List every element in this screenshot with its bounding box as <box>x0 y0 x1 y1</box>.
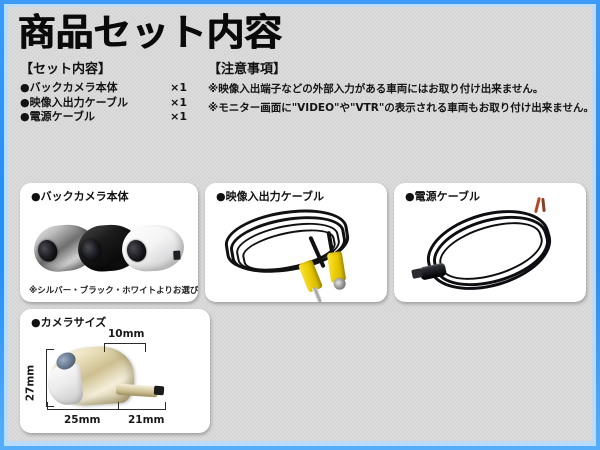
set-item-text-0: バックカメラ本体 <box>30 81 118 94</box>
camera-lens-icon <box>35 237 60 264</box>
set-contents-row: ●映像入出力ケーブル ×1 <box>20 96 205 111</box>
dimension-tick <box>104 343 105 352</box>
camera-mount-base <box>46 363 84 406</box>
set-item-label-2: ●電源ケーブル <box>20 110 95 125</box>
note-line-1: ※モニター画面に"VIDEO"や"VTR"の表示される車両もお取り付け出来ません… <box>208 101 586 116</box>
set-contents-heading: 【セット内容】 <box>20 61 205 78</box>
panel-back-camera: ●バックカメラ本体 ※シルバー・ブラック・ホワイトよりお選び下さい <box>20 183 198 302</box>
panel-label-av-cable: ●映像入出力ケーブル <box>216 190 324 204</box>
set-item-qty-0: ×1 <box>170 81 205 96</box>
dimension-label-bottom-left: 25mm <box>64 414 101 426</box>
dimension-tick <box>145 343 146 352</box>
bullet-icon: ● <box>20 96 30 109</box>
dimension-label-top: 10mm <box>108 328 145 340</box>
panel-label-camera-size: ●カメラサイズ <box>31 316 106 330</box>
rca-center-pin <box>312 287 323 302</box>
rca-jack-yellow <box>327 251 347 283</box>
notes-section: 【注意事項】 ※映像入出端子などの外部入力がある車両にはお取り付け出来ません。 … <box>208 61 586 116</box>
av-cable-photo <box>211 205 383 299</box>
dimension-line-top <box>104 343 146 344</box>
panel-footnote-color-choice: ※シルバー・ブラック・ホワイトよりお選び下さい <box>29 286 198 297</box>
camera-white <box>121 223 185 272</box>
set-contents-section: 【セット内容】 ●バックカメラ本体 ×1 ●映像入出力ケーブル ×1 ●電源ケー… <box>20 61 205 125</box>
set-contents-row: ●バックカメラ本体 ×1 <box>20 81 205 96</box>
panel-power-cable: ●電源ケーブル <box>394 183 586 302</box>
camera-mount-stem-tip <box>154 386 165 396</box>
dimension-line-bottom-left <box>47 409 119 410</box>
power-cable-bare-wire <box>534 197 540 213</box>
power-cable-photo <box>404 195 584 299</box>
panel-label-power-cable: ●電源ケーブル <box>405 190 480 204</box>
set-item-label-0: ●バックカメラ本体 <box>20 81 118 96</box>
back-camera-bodies-photo <box>32 219 190 277</box>
rca-socket-ring <box>332 277 346 291</box>
content-area: 商品セット内容 【セット内容】 ●バックカメラ本体 ×1 ●映像入出力ケーブル … <box>8 7 592 441</box>
dimension-label-bottom-right: 21mm <box>128 414 165 426</box>
camera-lens-icon <box>79 237 104 264</box>
product-set-contents-image: 商品セット内容 【セット内容】 ●バックカメラ本体 ×1 ●映像入出力ケーブル … <box>0 0 600 450</box>
notes-heading: 【注意事項】 <box>208 61 586 78</box>
set-contents-row: ●電源ケーブル ×1 <box>20 110 205 125</box>
dimension-tick <box>165 402 166 410</box>
bullet-icon: ● <box>20 110 30 123</box>
dimension-label-left: 27mm <box>24 365 36 402</box>
set-item-text-2: 電源ケーブル <box>30 110 95 123</box>
camera-connector-block <box>173 251 180 260</box>
set-item-qty-2: ×1 <box>170 110 205 125</box>
panel-label-back-camera: ●バックカメラ本体 <box>31 190 129 204</box>
dimension-tick <box>47 402 48 410</box>
dimension-tick <box>46 349 54 350</box>
set-item-text-1: 映像入出力ケーブル <box>30 96 128 109</box>
dimension-line-bottom-right <box>118 409 166 410</box>
set-item-qty-1: ×1 <box>170 96 205 111</box>
panel-av-cable: ●映像入出力ケーブル <box>205 183 387 302</box>
note-line-0: ※映像入出端子などの外部入力がある車両にはお取り付け出来ません。 <box>208 82 586 97</box>
power-cable-bare-wire <box>541 198 545 212</box>
set-item-label-1: ●映像入出力ケーブル <box>20 96 128 111</box>
dimension-line-left <box>46 349 47 407</box>
bullet-icon: ● <box>20 81 30 94</box>
page-title: 商品セット内容 <box>18 10 282 56</box>
camera-lens-icon <box>124 238 149 265</box>
panel-camera-size: ●カメラサイズ 10mm 27mm <box>20 309 210 433</box>
